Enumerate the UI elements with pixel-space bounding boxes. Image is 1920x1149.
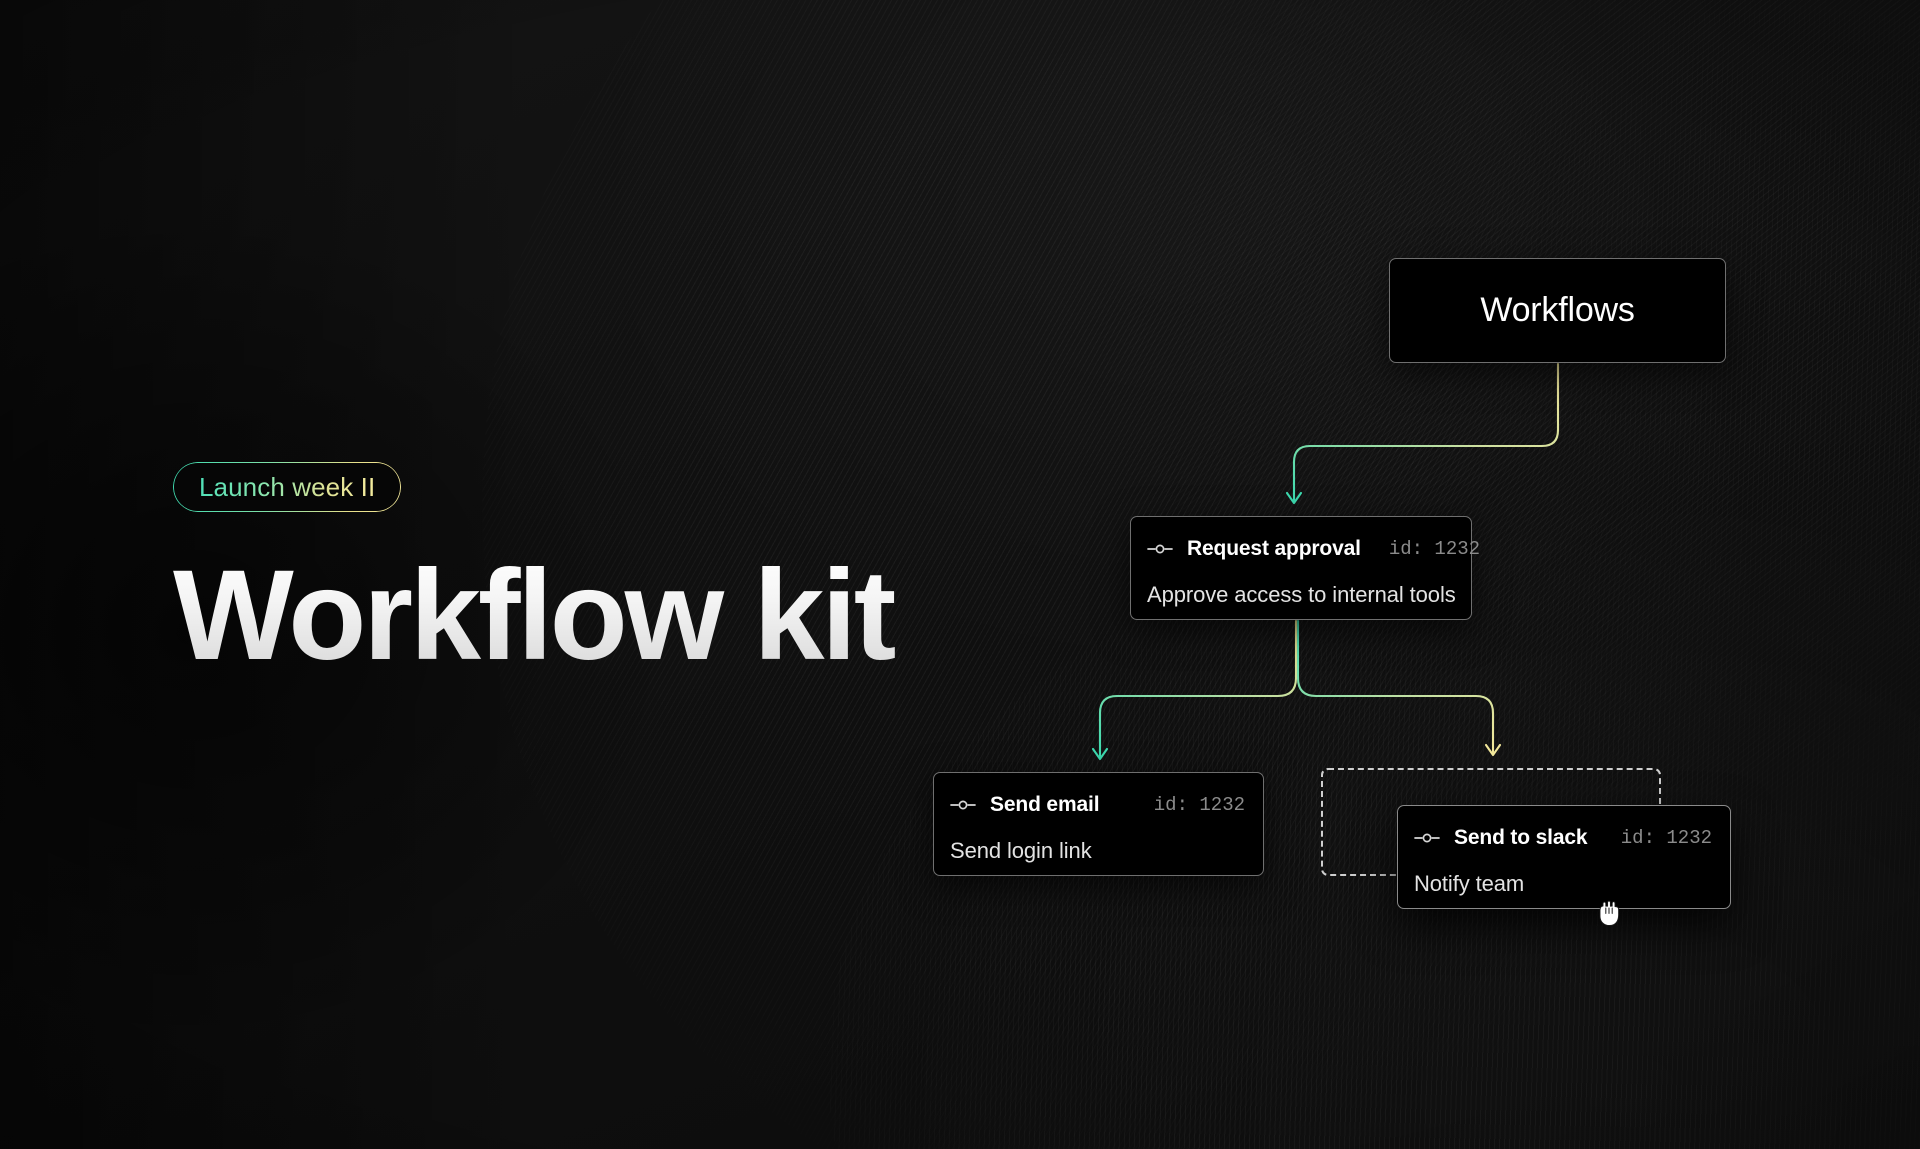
workflow-node-root-label: Workflows bbox=[1480, 291, 1634, 330]
node-title: Request approval bbox=[1187, 537, 1361, 561]
workflow-hero-canvas: Launch week II Workflow kit bbox=[0, 0, 1920, 1149]
node-title: Send email bbox=[990, 793, 1099, 817]
node-id-label: id: 1232 bbox=[1621, 827, 1712, 849]
grabbing-hand-cursor bbox=[1596, 898, 1622, 928]
launch-week-badge-label: Launch week II bbox=[199, 472, 375, 503]
node-header: Send email id: 1232 bbox=[950, 791, 1245, 819]
node-subtitle: Approve access to internal tools bbox=[1147, 582, 1453, 608]
edge-root-to-approval bbox=[1294, 364, 1558, 500]
node-header: Request approval id: 1232 bbox=[1147, 535, 1453, 563]
workflow-node-send-email[interactable]: Send email id: 1232 Send login link bbox=[933, 772, 1264, 876]
node-header: Send to slack id: 1232 bbox=[1414, 824, 1712, 852]
workflow-node-root[interactable]: Workflows bbox=[1389, 258, 1726, 363]
node-connector-icon bbox=[1147, 544, 1173, 554]
edge-arrow-slack bbox=[1486, 745, 1500, 755]
edge-arrow-approval bbox=[1287, 493, 1301, 503]
node-subtitle: Send login link bbox=[950, 838, 1245, 864]
workflow-node-send-to-slack[interactable]: Send to slack id: 1232 Notify team bbox=[1397, 805, 1731, 909]
node-subtitle: Notify team bbox=[1414, 871, 1712, 897]
edge-arrow-email bbox=[1093, 749, 1107, 759]
node-connector-icon bbox=[1414, 833, 1440, 843]
workflow-edges bbox=[0, 0, 1920, 1149]
edge-approval-to-email bbox=[1100, 621, 1296, 756]
node-title: Send to slack bbox=[1454, 826, 1587, 850]
workflow-diagram: Workflows Request approval id: 1232 Appr… bbox=[0, 0, 1920, 1149]
edge-approval-to-slack bbox=[1298, 621, 1493, 752]
node-id-label: id: 1232 bbox=[1154, 794, 1245, 816]
node-connector-icon bbox=[950, 800, 976, 810]
workflow-node-request-approval[interactable]: Request approval id: 1232 Approve access… bbox=[1130, 516, 1472, 620]
node-id-label: id: 1232 bbox=[1389, 538, 1480, 560]
